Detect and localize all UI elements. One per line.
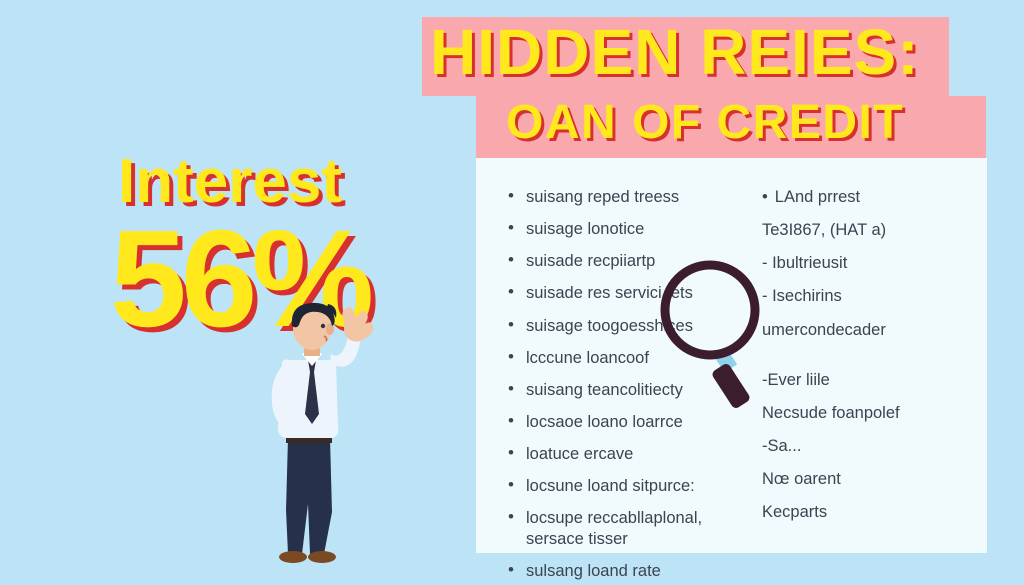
list-item: Necsude foanpolef (762, 404, 982, 422)
list-item: -Sa... (762, 437, 982, 455)
content-card: suisang reped treess suisage lonotice su… (476, 158, 987, 553)
list-item: LAnd prrest (762, 188, 982, 206)
list-item: Nœ oarent (762, 470, 982, 488)
headline-line-1: HIDDEN REIES: (430, 20, 920, 84)
list-item: -Ever liile (762, 371, 982, 389)
list-item: umercondecader (762, 321, 982, 339)
list-item: suisang reped treess (504, 188, 766, 206)
list-item: - Ibultrieusit (762, 254, 982, 272)
poster-canvas: HIDDEN REIES: OAN OF CREDIT Interest 56% (0, 0, 1024, 585)
list-item: - Isechirins (762, 287, 982, 305)
list-item: suisang teancolitiecty (504, 381, 766, 399)
list-item: suisage toogoesshices (504, 317, 766, 335)
list-item: suisage lonotice (504, 220, 766, 238)
list-item: locsaoe loano loarrce (504, 413, 766, 431)
list-item: lcccune loancoof (504, 349, 766, 367)
text-list-right: LAnd prrest Te3I867, (HAT a) - Ibultrieu… (762, 188, 982, 521)
list-item: locsupe reccabllaplonal, (504, 509, 766, 527)
list-item: Te3I867, (HAT a) (762, 221, 982, 239)
list-item-continuation: sersace tisser (504, 530, 766, 548)
list-item: loatuce ercave (504, 445, 766, 463)
bullet-column-right: LAnd prrest Te3I867, (HAT a) - Ibultrieu… (762, 188, 982, 536)
list-item: locsune loand sitpurce: (504, 477, 766, 495)
headline-line-2: OAN OF CREDIT (506, 99, 904, 147)
list-item: Kecparts (762, 503, 982, 521)
list-item: sulsang loand rate (504, 562, 766, 580)
list-item: suisade recpiiartp (504, 252, 766, 270)
bullet-column-left: suisang reped treess suisage lonotice su… (504, 188, 766, 585)
businessman-illustration (244, 298, 394, 570)
list-item: suisade res servici fets (504, 284, 766, 302)
bullet-list-left: suisang reped treess suisage lonotice su… (504, 188, 766, 580)
